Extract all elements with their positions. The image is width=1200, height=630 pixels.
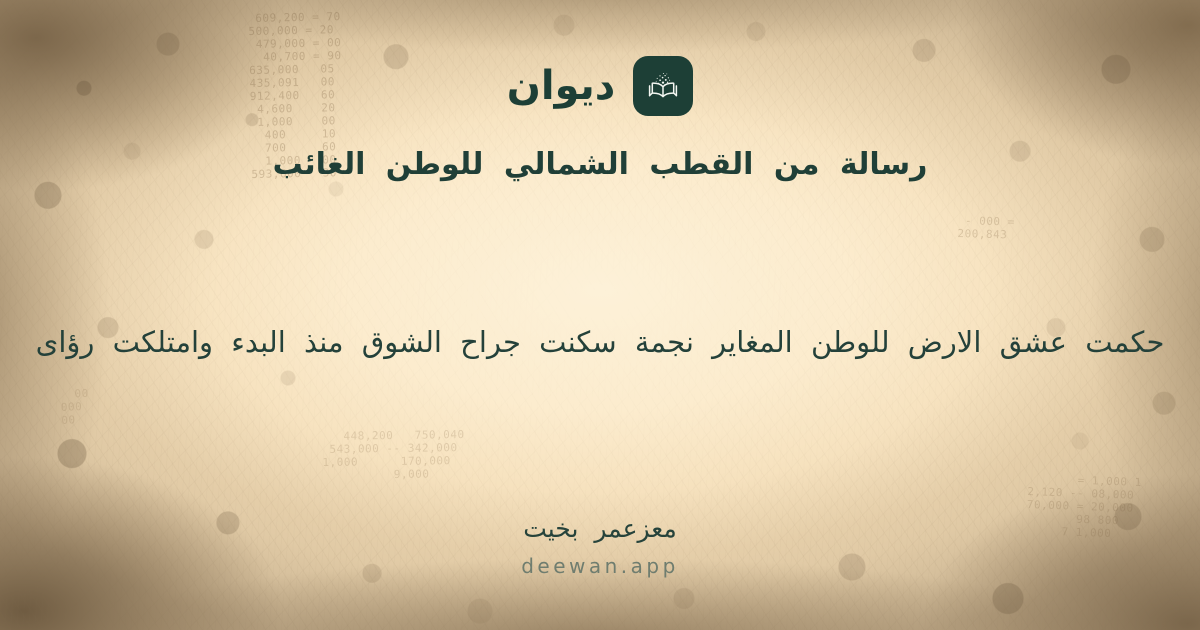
brand-row: ديوان bbox=[507, 56, 693, 116]
author-name: معزعمر بخيت bbox=[0, 513, 1200, 546]
brand-name: ديوان bbox=[507, 66, 615, 106]
poster-card: 70 = 609,200 20 = 500,000 00 = 479,000 9… bbox=[0, 0, 1200, 630]
poster-content: ديوان رسالة من القطب الشمالي للوطن الغائ… bbox=[0, 0, 1200, 630]
site-url: deewan.app bbox=[0, 554, 1200, 578]
poem-title: رسالة من القطب الشمالي للوطن الغائب bbox=[273, 144, 928, 186]
poster-footer: معزعمر بخيت deewan.app bbox=[0, 513, 1200, 579]
poem-body-container: حكمت عشق الارض للوطن المغاير نجمة سكنت ج… bbox=[0, 312, 1200, 372]
open-book-sparkles-icon bbox=[633, 56, 693, 116]
poem-body-text: حكمت عشق الارض للوطن المغاير نجمة سكنت ج… bbox=[36, 321, 1165, 363]
